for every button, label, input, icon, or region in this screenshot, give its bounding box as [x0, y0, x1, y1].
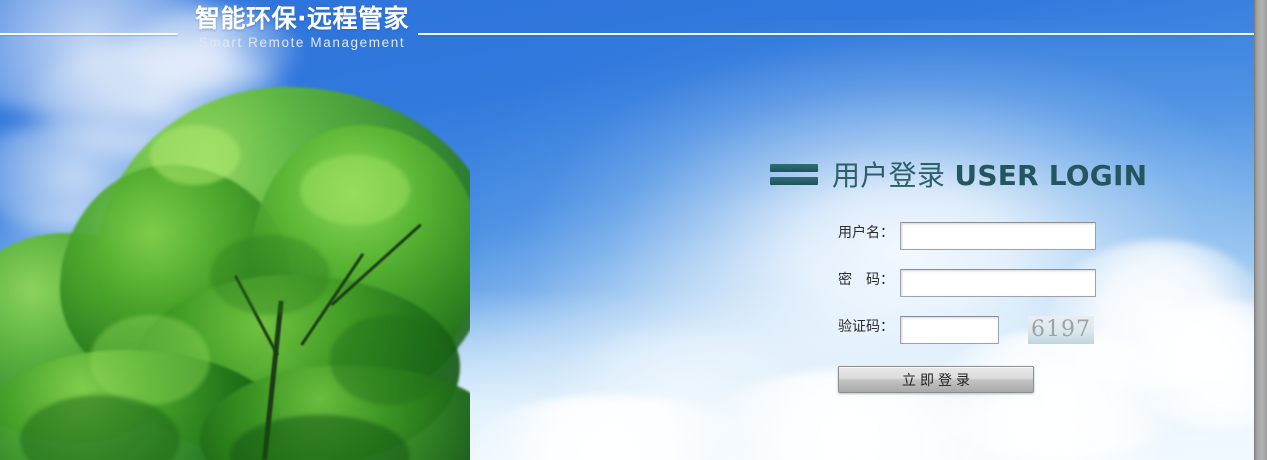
header-rule-right	[418, 33, 1256, 35]
username-row: 用户名：	[838, 222, 1170, 260]
login-title-text: 用户登录 USER LOGIN	[832, 154, 1147, 194]
login-form: 用户名： 密 码： 验证码： 6197 立即登录	[838, 222, 1170, 393]
username-label: 用户名：	[838, 222, 900, 242]
password-row: 密 码：	[838, 269, 1170, 307]
tree-foliage-texture	[330, 315, 450, 405]
brand-title: 智能环保·远程管家	[186, 6, 418, 31]
brand: 智能环保·远程管家 Smart Remote Management	[186, 6, 418, 50]
tree-foliage-texture	[210, 235, 330, 315]
tree-foliage-texture	[150, 125, 240, 185]
captcha-row: 验证码： 6197	[838, 316, 1170, 354]
cloud	[560, 330, 800, 440]
page-right-edge[interactable]	[1254, 0, 1267, 460]
login-page: 智能环保·远程管家 Smart Remote Management 用户登录 U…	[0, 0, 1267, 460]
username-input[interactable]	[900, 222, 1096, 250]
brand-subtitle: Smart Remote Management	[186, 36, 418, 50]
tree-foliage-texture	[300, 155, 410, 225]
login-title-cn: 用户登录	[832, 159, 945, 192]
two-bars-icon	[770, 164, 818, 185]
login-title: 用户登录 USER LOGIN	[770, 152, 1170, 196]
login-button[interactable]: 立即登录	[838, 366, 1034, 393]
header-rule-left	[0, 33, 178, 35]
captcha-image[interactable]: 6197	[1028, 316, 1094, 344]
tree-photo	[0, 65, 470, 460]
captcha-label: 验证码：	[838, 316, 900, 336]
password-label: 密 码：	[838, 269, 900, 289]
password-input[interactable]	[900, 269, 1096, 297]
tree-foliage-texture	[90, 315, 210, 405]
captcha-input[interactable]	[900, 316, 999, 344]
login-title-en: USER LOGIN	[954, 159, 1147, 192]
submit-row: 立即登录	[838, 366, 1170, 393]
login-panel: 用户登录 USER LOGIN 用户名： 密 码： 验证码： 6197 立即登录	[770, 152, 1170, 393]
